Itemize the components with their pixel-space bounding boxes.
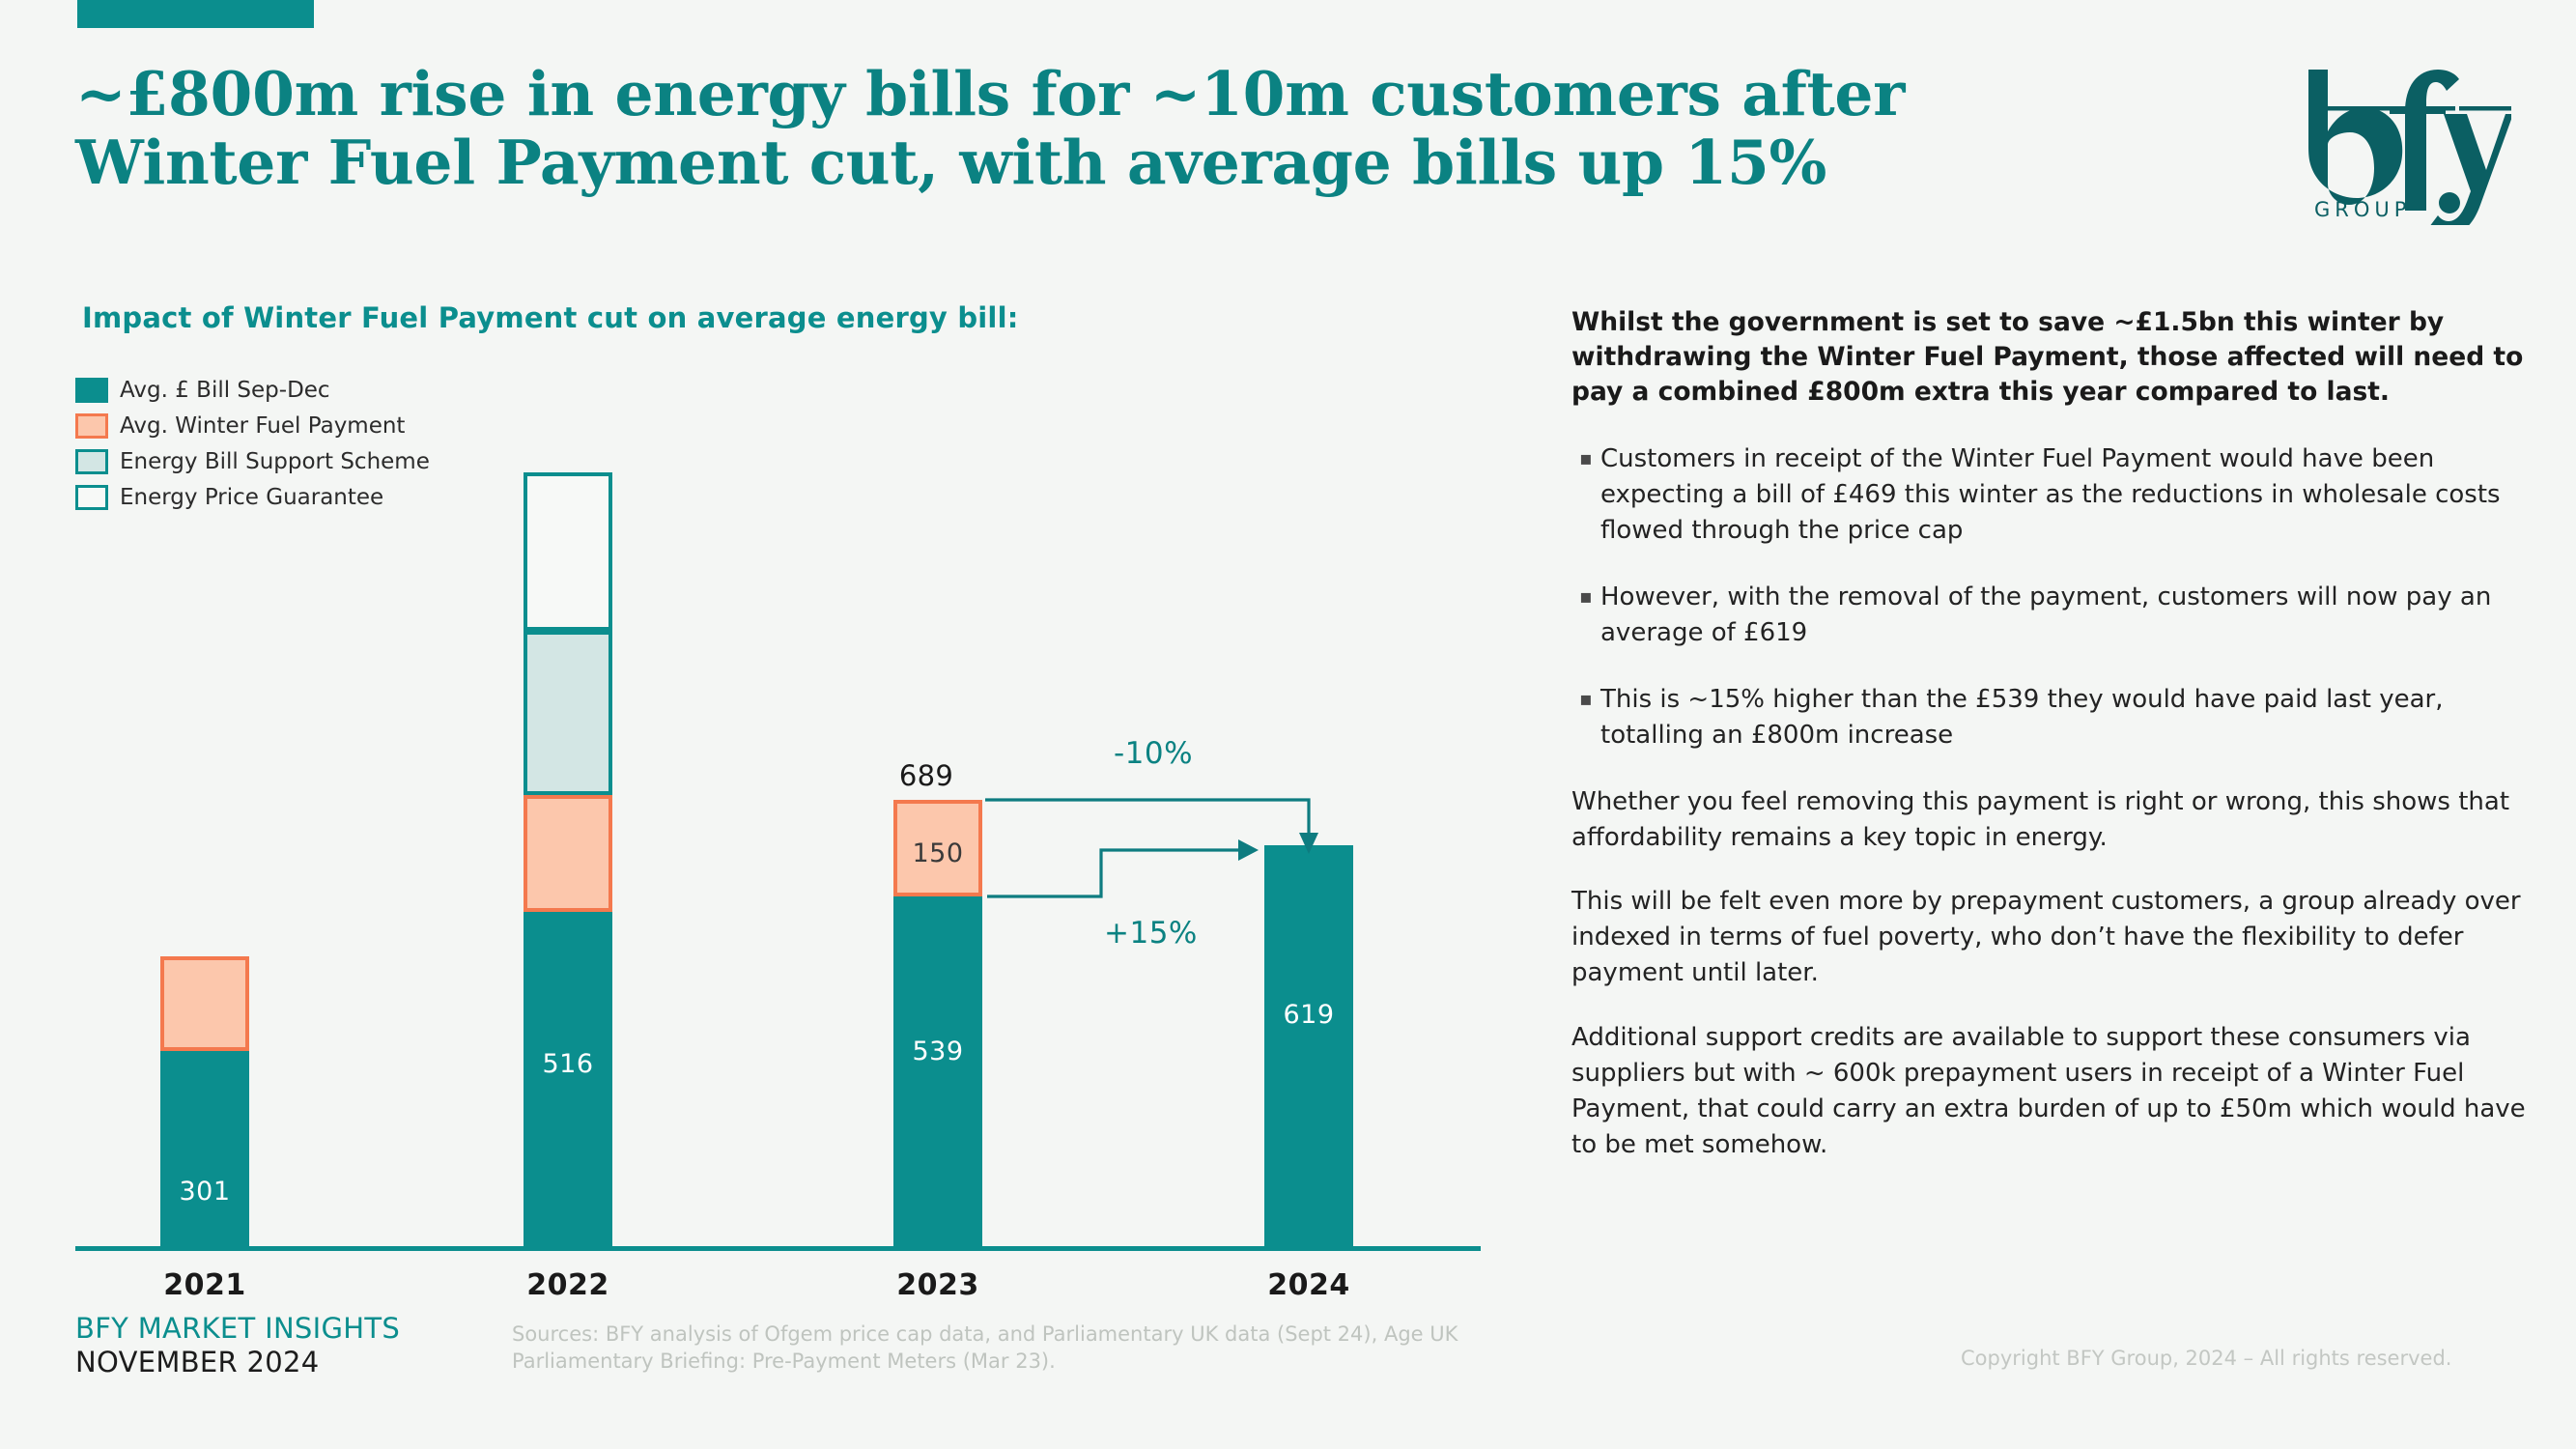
- infographic-page: ~£800m rise in energy bills for ~10m cus…: [0, 0, 2576, 1449]
- x-axis-label-2021: 2021: [122, 1268, 288, 1302]
- bar-total-label: 689: [882, 759, 971, 792]
- bullet-item: ▪This is ~15% higher than the £539 they …: [1571, 682, 2537, 753]
- bar-value-label: 301: [160, 1177, 249, 1207]
- bar-value-label: 150: [897, 838, 978, 868]
- body-paragraph: Additional support credits are available…: [1571, 1020, 2537, 1163]
- bar-segment-2024: 619: [1264, 845, 1353, 1246]
- annotation-minus10-label: -10%: [1114, 736, 1193, 771]
- bar-value-label: 539: [893, 1037, 982, 1066]
- bar-segment-2022: [524, 631, 612, 795]
- x-axis-label-2024: 2024: [1226, 1268, 1392, 1302]
- body-paragraph: This will be felt even more by prepaymen…: [1571, 884, 2537, 991]
- sources-note: Sources: BFY analysis of Ofgem price cap…: [512, 1321, 1478, 1375]
- bullet-text: Customers in receipt of the Winter Fuel …: [1600, 441, 2537, 549]
- body-paragraph: Whether you feel removing this payment i…: [1571, 784, 2537, 856]
- copyright-note: Copyright BFY Group, 2024 – All rights r…: [1961, 1347, 2451, 1370]
- bar-segment-2021: 301: [160, 1051, 249, 1246]
- bullet-marker-icon: ▪: [1571, 441, 1600, 549]
- annotation-line-minus10: [985, 800, 1309, 833]
- bullet-text: However, with the removal of the payment…: [1600, 580, 2537, 651]
- bar-segment-2022: 516: [524, 912, 612, 1246]
- insights-line-2: NOVEMBER 2024: [75, 1346, 400, 1379]
- bar-segment-2022: [524, 795, 612, 912]
- annotation-line-plus15: [987, 850, 1238, 896]
- body-paragraphs: Whether you feel removing this payment i…: [1571, 784, 2537, 1163]
- logo-subtext: GROUP: [2314, 198, 2411, 221]
- x-axis-label-2023: 2023: [855, 1268, 1021, 1302]
- x-axis-label-2022: 2022: [485, 1268, 651, 1302]
- bullet-list: ▪Customers in receipt of the Winter Fuel…: [1571, 441, 2537, 753]
- insights-line-1: BFY MARKET INSIGHTS: [75, 1312, 400, 1346]
- bar-value-label: 619: [1264, 1000, 1353, 1030]
- bullet-item: ▪However, with the removal of the paymen…: [1571, 580, 2537, 651]
- bullet-text: This is ~15% higher than the £539 they w…: [1600, 682, 2537, 753]
- bfy-group-logo: GROUP: [2289, 56, 2511, 225]
- bar-segment-2023: 539: [893, 896, 982, 1246]
- bar-value-label: 516: [524, 1049, 612, 1079]
- bar-segment-2022: [524, 472, 612, 631]
- x-axis-line: [75, 1246, 1481, 1251]
- annotation-plus15-label: +15%: [1104, 916, 1198, 951]
- bar-segment-2021: [160, 956, 249, 1051]
- bullet-marker-icon: ▪: [1571, 682, 1600, 753]
- plot-area: 301516539150689619 2021202220232024 -10%…: [0, 0, 1545, 1449]
- market-insights-stamp: BFY MARKET INSIGHTS NOVEMBER 2024: [75, 1312, 400, 1380]
- chart-panel: Impact of Winter Fuel Payment cut on ave…: [0, 0, 1545, 1449]
- commentary-column: Whilst the government is set to save ~£1…: [1571, 305, 2537, 1192]
- bullet-item: ▪Customers in receipt of the Winter Fuel…: [1571, 441, 2537, 549]
- annotation-arrow-plus15: [1238, 839, 1259, 861]
- lede-paragraph: Whilst the government is set to save ~£1…: [1571, 305, 2537, 409]
- bullet-marker-icon: ▪: [1571, 580, 1600, 651]
- bar-segment-2023: 150: [893, 800, 982, 896]
